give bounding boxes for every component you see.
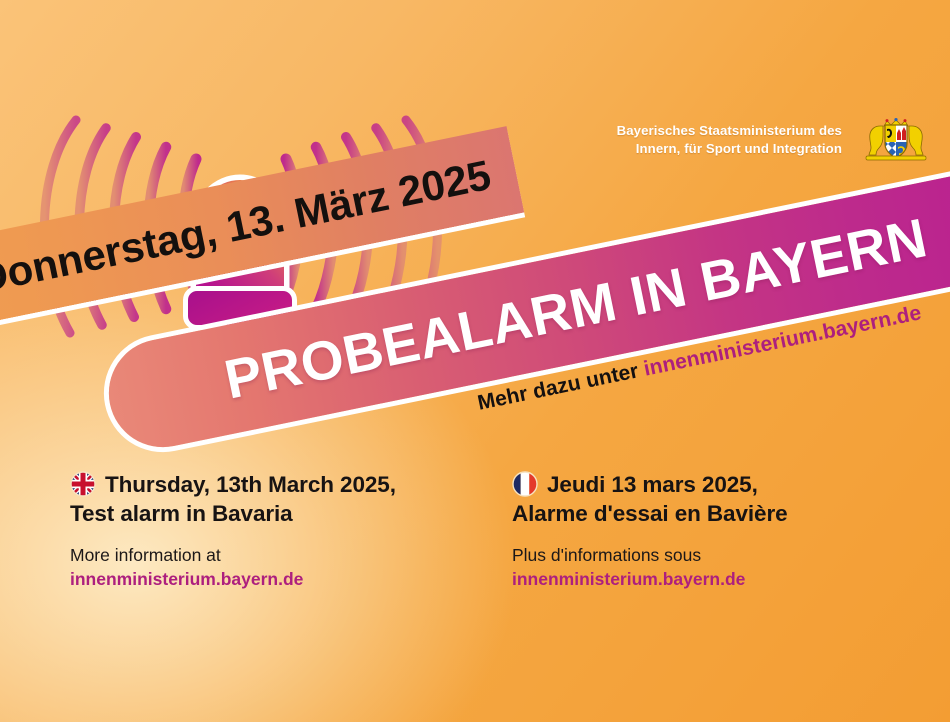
more-info-german-url[interactable]: innenministerium.bayern.de <box>642 301 924 380</box>
french-subtext: Plus d'informations sous innenministeriu… <box>512 543 942 591</box>
english-subtext: More information at innenministerium.bay… <box>70 543 500 591</box>
french-subtext-label: Plus d'informations sous <box>512 545 701 565</box>
language-block-english: Thursday, 13th March 2025, Test alarm in… <box>70 470 500 591</box>
france-flag-icon <box>512 471 538 497</box>
probealarm-poster: Bayerisches Staatsministerium des Innern… <box>0 0 950 722</box>
french-headline-line2: Alarme d'essai en Bavière <box>512 501 788 526</box>
more-info-german: Mehr dazu unter innenministerium.bayern.… <box>476 301 924 415</box>
ministry-name: Bayerisches Staatsministerium des Innern… <box>617 122 842 157</box>
bavarian-coat-of-arms-icon <box>856 116 936 164</box>
french-url[interactable]: innenministerium.bayern.de <box>512 567 942 591</box>
ministry-branding: Bayerisches Staatsministerium des Innern… <box>617 116 936 164</box>
french-headline: Jeudi 13 mars 2025, Alarme d'essai en Ba… <box>512 470 942 529</box>
emergency-siren-light-icon <box>30 85 450 355</box>
english-headline: Thursday, 13th March 2025, Test alarm in… <box>70 470 500 529</box>
ministry-name-line2: Innern, für Sport und Integration <box>617 140 842 158</box>
french-headline-line1: Jeudi 13 mars 2025, <box>547 472 758 497</box>
more-info-german-prefix: Mehr dazu unter <box>476 358 647 415</box>
english-url[interactable]: innenministerium.bayern.de <box>70 567 500 591</box>
english-headline-line1: Thursday, 13th March 2025, <box>105 472 396 497</box>
ministry-name-line1: Bayerisches Staatsministerium des <box>617 122 842 140</box>
language-block-french: Jeudi 13 mars 2025, Alarme d'essai en Ba… <box>512 470 942 591</box>
english-subtext-label: More information at <box>70 545 221 565</box>
uk-flag-icon <box>70 471 96 497</box>
english-headline-line2: Test alarm in Bavaria <box>70 501 293 526</box>
